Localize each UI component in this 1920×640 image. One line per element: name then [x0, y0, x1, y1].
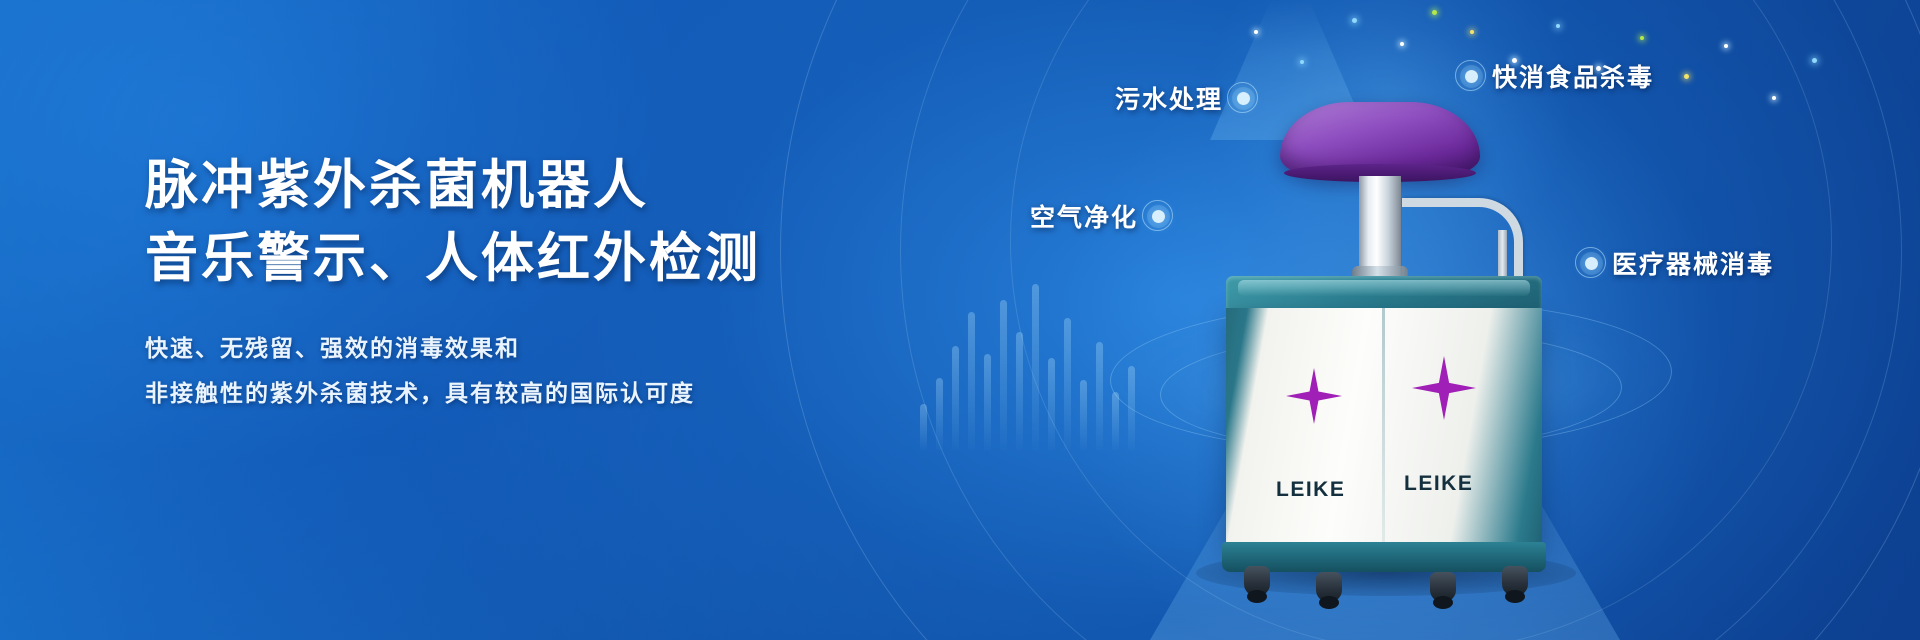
callout-label: 医疗器械消毒 — [1612, 245, 1774, 281]
sparkle-particle — [1300, 60, 1304, 64]
banner-copy-block: 脉冲紫外杀菌机器人 音乐警示、人体红外检测 快速、无残留、强效的消毒效果和 非接… — [145, 150, 865, 416]
promo-banner: 脉冲紫外杀菌机器人 音乐警示、人体红外检测 快速、无残留、强效的消毒效果和 非接… — [0, 0, 1920, 640]
callout-air-purification[interactable]: 空气净化 — [1030, 198, 1165, 234]
sparkle-particle — [1556, 24, 1560, 28]
cabinet-base — [1222, 542, 1546, 572]
sparkle-particle — [1684, 74, 1689, 79]
sparkle-particle — [1400, 42, 1404, 46]
lamp-stem — [1359, 176, 1401, 276]
sparkle-particle — [1470, 30, 1474, 34]
caster-wheel-icon — [1502, 566, 1528, 596]
sparkle-particle — [1254, 30, 1258, 34]
cabinet-top-highlight — [1238, 280, 1530, 296]
headline-line-1: 脉冲紫外杀菌机器人 — [145, 150, 865, 223]
callout-label: 空气净化 — [1030, 198, 1138, 234]
waveform-decoration — [920, 250, 1135, 450]
caster-wheel-icon — [1244, 566, 1270, 596]
subcopy-line-2: 非接触性的紫外杀菌技术，具有较高的国际认可度 — [145, 371, 865, 416]
uv-sterilization-robot-illustration: LEIKE LEIKE — [1180, 80, 1600, 560]
sparkle-particle — [1432, 10, 1437, 15]
sparkle-particle — [1772, 96, 1776, 100]
subcopy-line-1: 快速、无残留、强效的消毒效果和 — [145, 326, 865, 371]
sparkle-particle — [1352, 18, 1357, 23]
callout-medical-device-sterilization[interactable]: 医疗器械消毒 — [1585, 245, 1774, 281]
brand-text-right: LEIKE — [1404, 472, 1473, 496]
headline-line-2: 音乐警示、人体红外检测 — [145, 223, 865, 296]
sparkle-particle — [1640, 36, 1644, 40]
node-dot-icon — [1152, 210, 1165, 223]
caster-wheel-icon — [1316, 572, 1342, 602]
caster-wheel-icon — [1430, 572, 1456, 602]
sparkle-particle — [1812, 58, 1817, 63]
brand-text-left: LEIKE — [1276, 478, 1345, 502]
cabinet-center-seam — [1382, 308, 1385, 548]
sparkle-particle — [1724, 44, 1728, 48]
